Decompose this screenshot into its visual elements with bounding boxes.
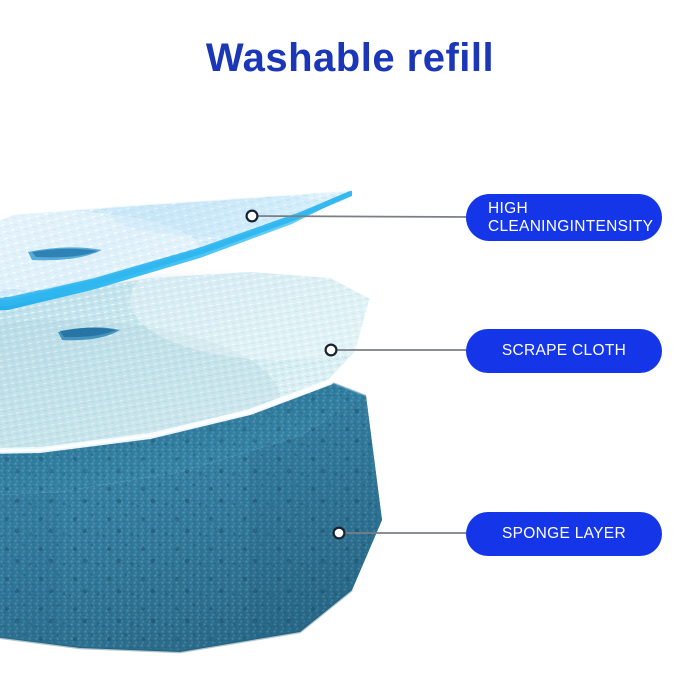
callout-label-2: SCRAPE CLOTH xyxy=(466,342,662,359)
callout-label-3: SPONGE LAYER xyxy=(466,525,662,542)
page-title: Washable refill xyxy=(0,36,700,81)
callout-high-cleaning-intensity[interactable]: HIGH CLEANINGINTENSITY xyxy=(466,194,662,241)
callout-label-1: HIGH CLEANINGINTENSITY xyxy=(488,200,652,235)
callout-sponge-layer[interactable]: SPONGE LAYER xyxy=(466,512,662,556)
infographic-canvas: Washable refill HIGH CLEANINGINTENSITY S… xyxy=(0,0,700,700)
callout-scrape-cloth[interactable]: SCRAPE CLOTH xyxy=(466,329,662,373)
